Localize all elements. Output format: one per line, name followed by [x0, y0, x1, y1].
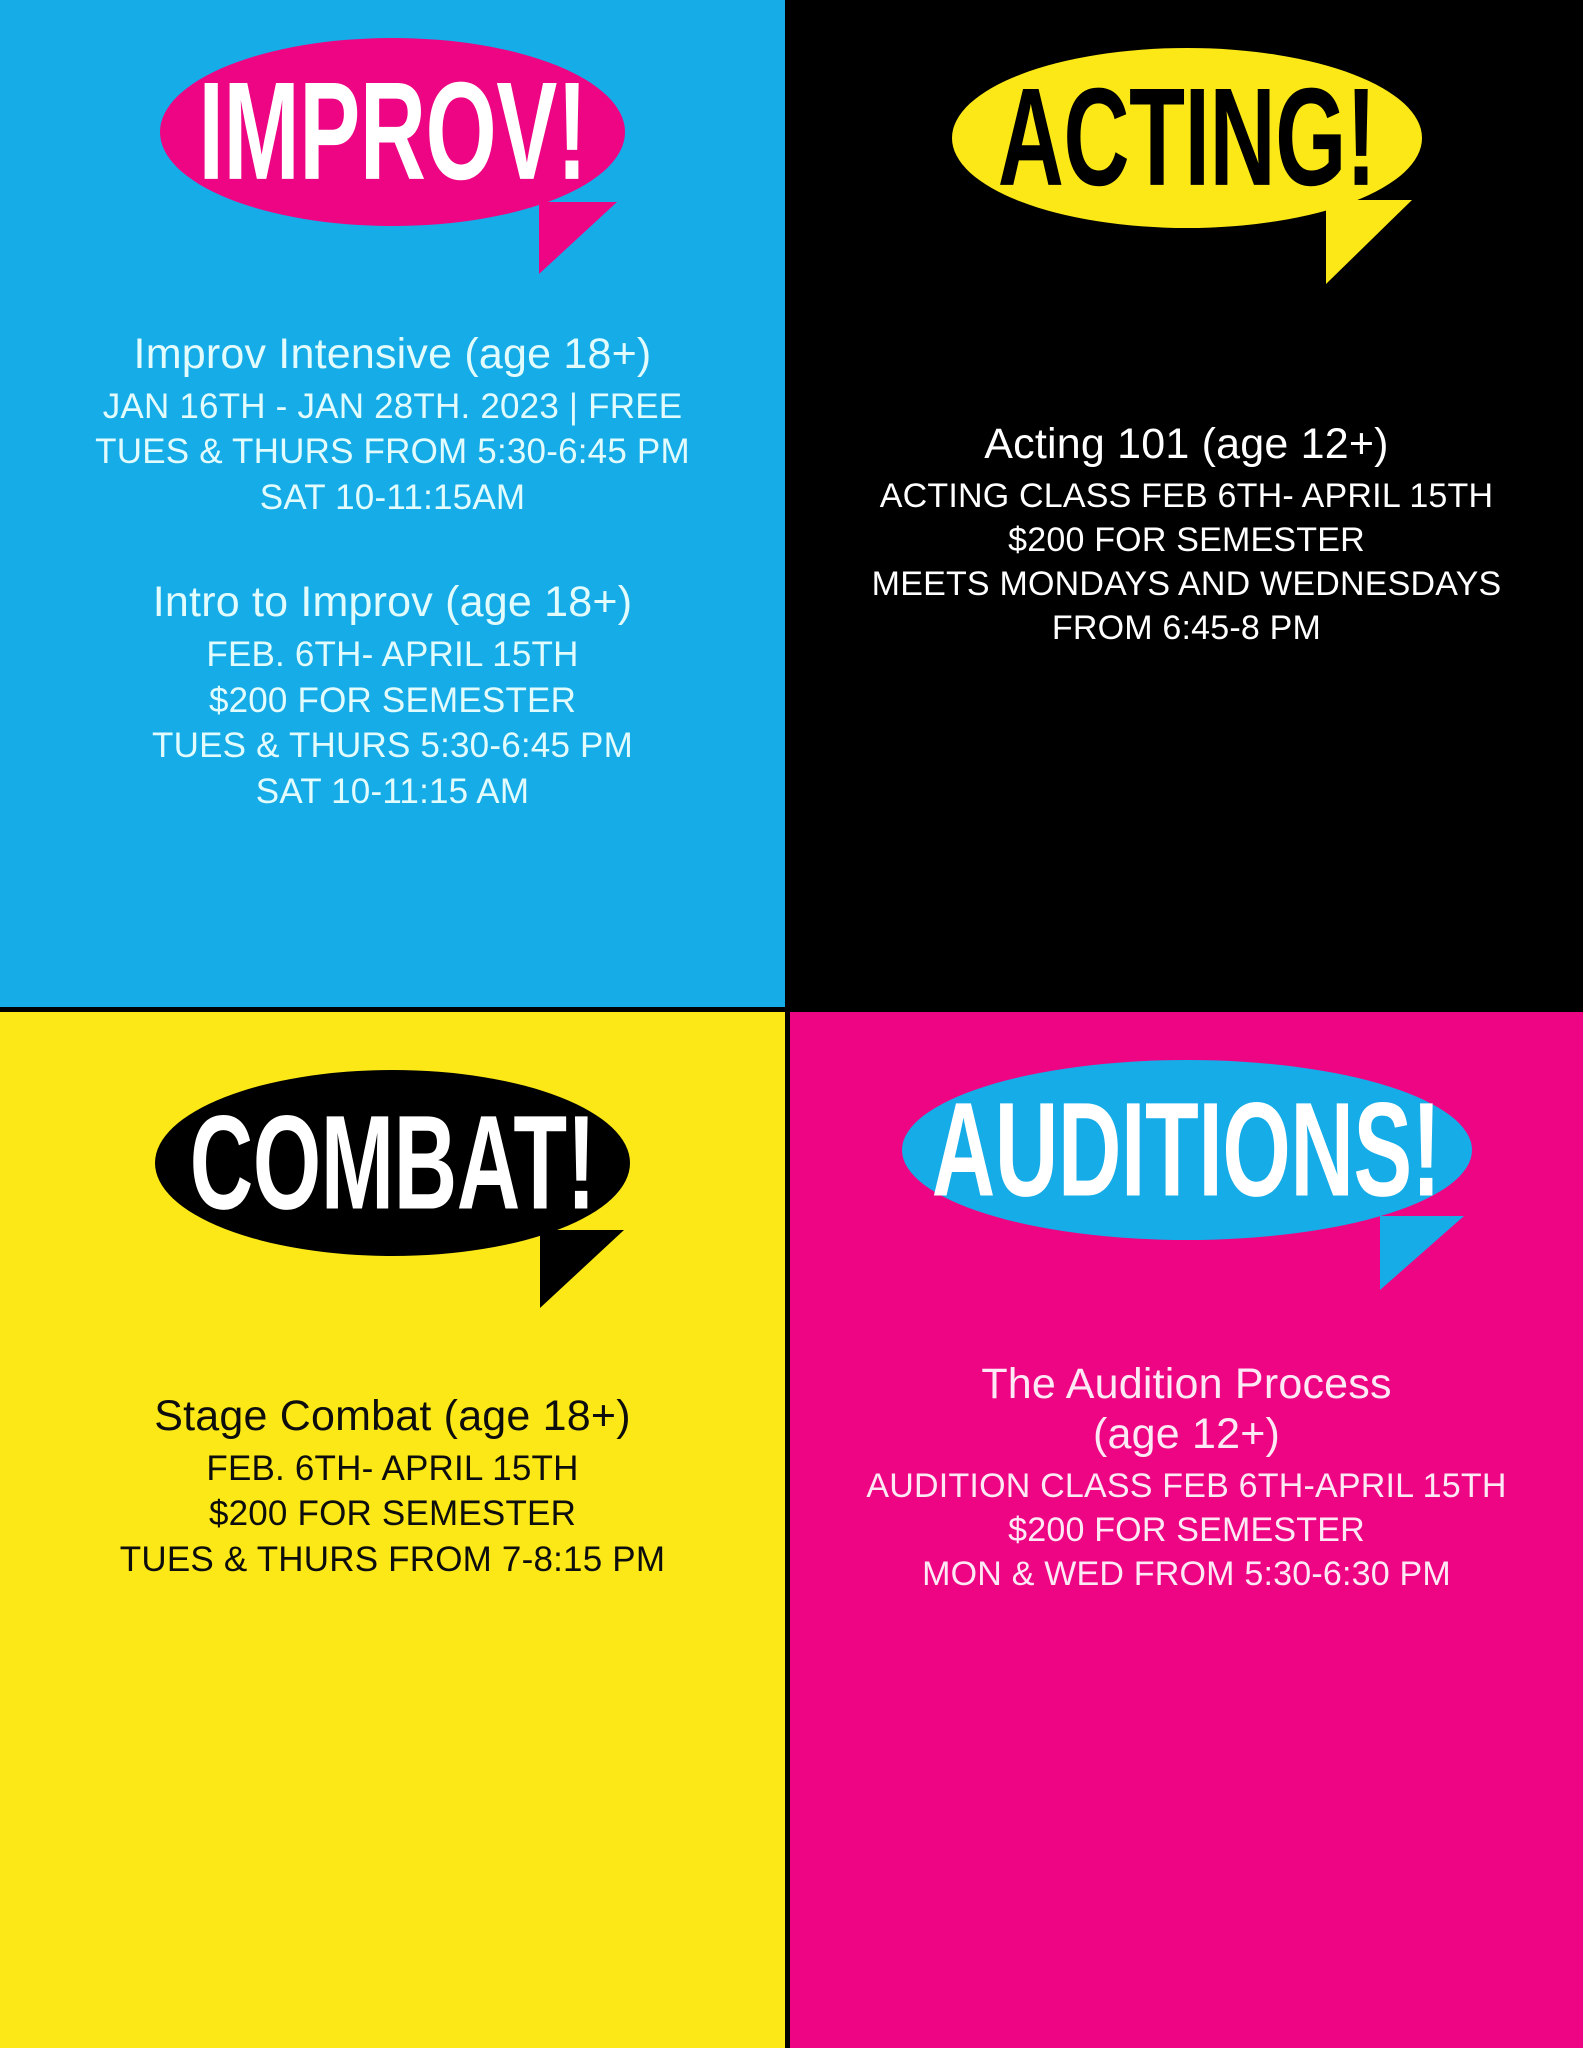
auditions-bubble-wrap: AUDITIONS! — [790, 1060, 1583, 1240]
course-block: Stage Combat (age 18+) FEB. 6TH- APRIL 1… — [14, 1392, 771, 1582]
course-detail-line: TUES & THURS FROM 7-8:15 PM — [14, 1537, 771, 1583]
panel-improv: IMPROV! Improv Intensive (age 18+) JAN 1… — [0, 0, 790, 1012]
speech-bubble-tail-icon — [1380, 1216, 1464, 1290]
course-detail-line: SAT 10-11:15AM — [14, 475, 771, 521]
combat-course-list: Stage Combat (age 18+) FEB. 6TH- APRIL 1… — [0, 1392, 785, 1582]
course-detail-line: TUES & THURS FROM 5:30-6:45 PM — [14, 429, 771, 475]
course-detail-line: FEB. 6TH- APRIL 15TH — [14, 1446, 771, 1492]
course-detail-line: JAN 16TH - JAN 28TH. 2023 | FREE — [14, 384, 771, 430]
course-block: Improv Intensive (age 18+) JAN 16TH - JA… — [14, 330, 771, 520]
improv-bubble-label: IMPROV! — [198, 62, 586, 201]
class-schedule-poster: IMPROV! Improv Intensive (age 18+) JAN 1… — [0, 0, 1583, 2048]
auditions-speech-bubble: AUDITIONS! — [902, 1060, 1472, 1240]
course-title: Intro to Improv (age 18+) — [14, 578, 771, 628]
speech-bubble-tail-icon — [539, 202, 617, 274]
combat-bubble-label: COMBAT! — [190, 1096, 596, 1230]
acting-speech-bubble: ACTING! — [952, 48, 1422, 228]
course-detail-line: SAT 10-11:15 AM — [14, 769, 771, 815]
speech-bubble-tail-icon — [540, 1230, 624, 1308]
course-title: Stage Combat (age 18+) — [14, 1392, 771, 1442]
course-detail-line: $200 FOR SEMESTER — [804, 518, 1569, 562]
course-detail-line: ACTING CLASS FEB 6TH- APRIL 15TH — [804, 474, 1569, 518]
course-detail-line: MON & WED FROM 5:30-6:30 PM — [804, 1552, 1569, 1596]
course-block: Intro to Improv (age 18+) FEB. 6TH- APRI… — [14, 578, 771, 814]
course-title: Improv Intensive (age 18+) — [14, 330, 771, 380]
course-detail-line: AUDITION CLASS FEB 6TH-APRIL 15TH — [804, 1464, 1569, 1508]
course-block: Acting 101 (age 12+) ACTING CLASS FEB 6T… — [804, 420, 1569, 651]
course-detail-line: $200 FOR SEMESTER — [804, 1508, 1569, 1552]
acting-bubble-label: ACTING! — [997, 68, 1375, 207]
improv-speech-bubble: IMPROV! — [160, 38, 625, 226]
panel-combat: COMBAT! Stage Combat (age 18+) FEB. 6TH-… — [0, 1012, 790, 2048]
course-title: Acting 101 (age 12+) — [804, 420, 1569, 470]
speech-bubble-tail-icon — [1326, 200, 1412, 284]
course-detail-line: TUES & THURS 5:30-6:45 PM — [14, 723, 771, 769]
combat-speech-bubble: COMBAT! — [155, 1070, 630, 1256]
course-detail-line: $200 FOR SEMESTER — [14, 1491, 771, 1537]
improv-course-list: Improv Intensive (age 18+) JAN 16TH - JA… — [0, 330, 785, 814]
improv-bubble-wrap: IMPROV! — [0, 38, 785, 226]
acting-course-list: Acting 101 (age 12+) ACTING CLASS FEB 6T… — [790, 420, 1583, 651]
combat-bubble-wrap: COMBAT! — [0, 1070, 785, 1256]
panel-acting: ACTING! Acting 101 (age 12+) ACTING CLAS… — [790, 0, 1583, 1012]
course-detail-line: $200 FOR SEMESTER — [14, 678, 771, 724]
course-title: The Audition Process (age 12+) — [804, 1360, 1569, 1460]
course-detail-line: MEETS MONDAYS AND WEDNESDAYS — [804, 562, 1569, 606]
course-detail-line: FEB. 6TH- APRIL 15TH — [14, 632, 771, 678]
auditions-bubble-label: AUDITIONS! — [932, 1083, 1441, 1217]
course-detail-line: FROM 6:45-8 PM — [804, 606, 1569, 650]
panel-auditions: AUDITIONS! The Audition Process (age 12+… — [790, 1012, 1583, 2048]
auditions-course-list: The Audition Process (age 12+) AUDITION … — [790, 1360, 1583, 1596]
course-block: The Audition Process (age 12+) AUDITION … — [804, 1360, 1569, 1596]
acting-bubble-wrap: ACTING! — [790, 48, 1583, 228]
